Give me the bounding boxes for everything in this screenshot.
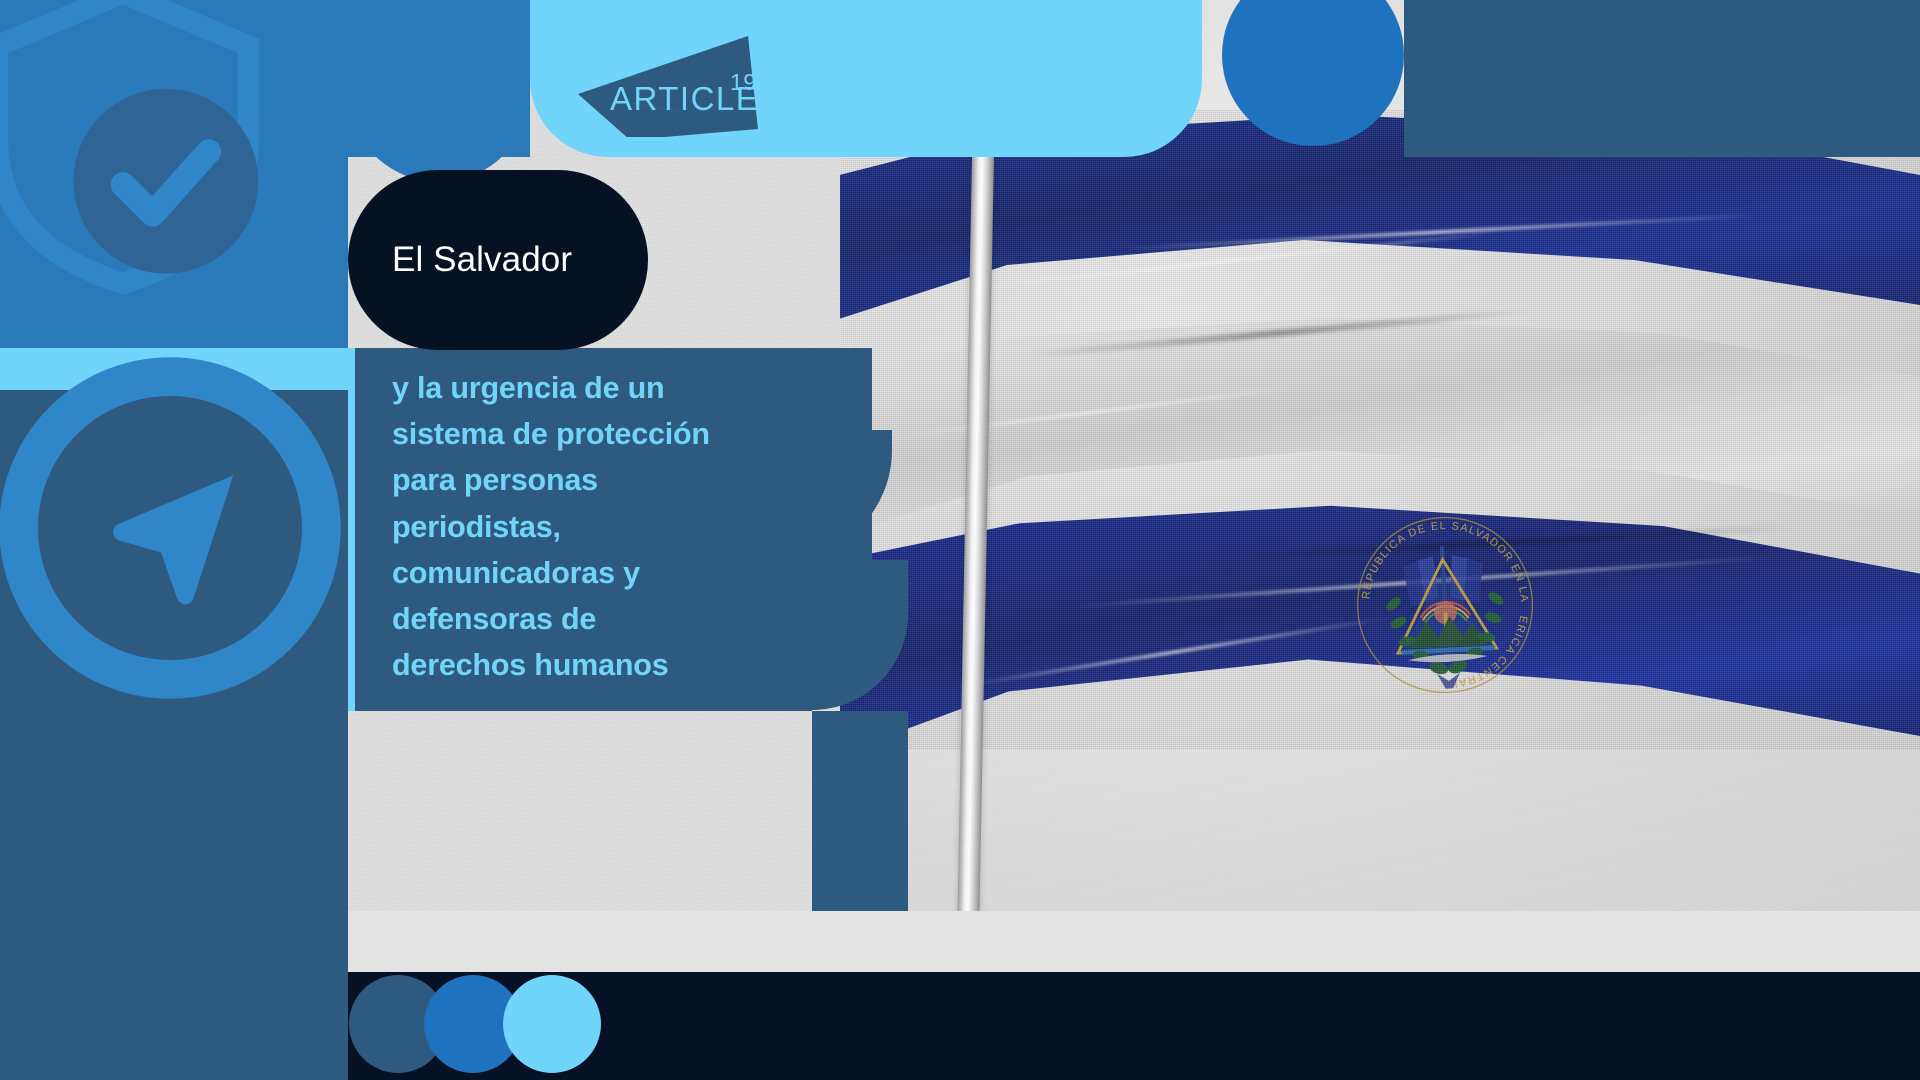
bottom-light-strip	[348, 911, 1920, 972]
article19-logo[interactable]: ARTICLE 19	[570, 32, 780, 137]
country-badge: El Salvador	[348, 170, 648, 350]
deco-block-c	[812, 711, 908, 911]
coat-of-arms: REPUBLICA DE EL SALVADOR EN LA AM ERICA …	[1345, 505, 1545, 705]
top-blue-circle	[348, 0, 530, 182]
country-label: El Salvador	[348, 240, 572, 280]
headline-line: defensoras de	[392, 596, 804, 642]
headline-line: sistema de protección	[392, 411, 804, 457]
headline-line: periodistas,	[392, 504, 804, 550]
headline-line: comunicadoras y	[392, 550, 804, 596]
headline-text: y la urgencia de un sistema de protecció…	[392, 365, 804, 688]
bottom-dot-cyan	[503, 975, 601, 1073]
send-circle-icon	[0, 352, 346, 704]
headline-line: derechos humanos	[392, 642, 804, 688]
headline-accent-bar	[348, 348, 355, 711]
headline-line: y la urgencia de un	[392, 365, 804, 411]
left-panel-bottom-pad	[0, 911, 348, 1080]
banner-canvas: REPUBLICA DE EL SALVADOR EN LA AM ERICA …	[0, 0, 1920, 1080]
flag-cloth: REPUBLICA DE EL SALVADOR EN LA AM ERICA …	[840, 110, 1920, 750]
shield-check-icon	[0, 0, 288, 300]
top-right-rect	[1404, 0, 1920, 157]
headline-line: para personas	[392, 457, 804, 503]
logo-number: 19	[730, 69, 757, 95]
